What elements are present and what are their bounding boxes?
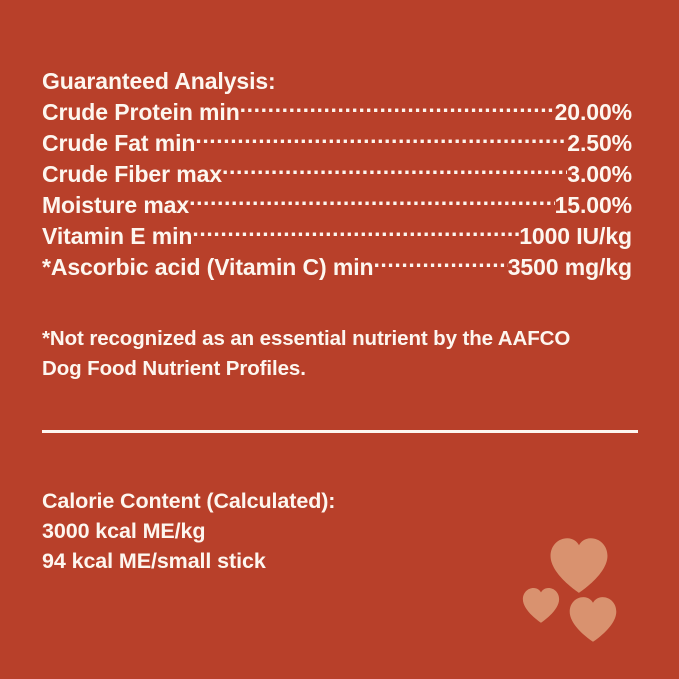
- calorie-content-section: Calorie Content (Calculated): 3000 kcal …: [42, 486, 502, 576]
- dot-leader: [195, 128, 567, 151]
- nutrient-row: Crude Protein min 20.00%: [42, 97, 632, 128]
- footnote-line-2: Dog Food Nutrient Profiles.: [42, 354, 642, 384]
- nutrient-value: 3.00%: [567, 159, 632, 190]
- nutrient-value: 1000 IU/kg: [519, 221, 632, 252]
- guaranteed-analysis-section: Guaranteed Analysis: Crude Protein min 2…: [42, 66, 632, 283]
- nutrient-label: Crude Fat min: [42, 128, 195, 159]
- calorie-per-stick: 94 kcal ME/small stick: [42, 546, 502, 576]
- nutrient-row: Moisture max 15.00%: [42, 190, 632, 221]
- nutrient-row: *Ascorbic acid (Vitamin C) min 3500 mg/k…: [42, 252, 632, 283]
- nutrient-value: 2.50%: [567, 128, 632, 159]
- nutrient-row: Vitamin E min 1000 IU/kg: [42, 221, 632, 252]
- calorie-per-kg: 3000 kcal ME/kg: [42, 516, 502, 546]
- dot-leader: [189, 190, 555, 213]
- nutrient-label: Moisture max: [42, 190, 189, 221]
- nutrient-label: *Ascorbic acid (Vitamin C) min: [42, 252, 373, 283]
- aafco-footnote: *Not recognized as an essential nutrient…: [42, 324, 642, 384]
- nutrient-label: Crude Protein min: [42, 97, 240, 128]
- dot-leader: [192, 221, 519, 244]
- nutrient-label: Crude Fiber max: [42, 159, 222, 190]
- dot-leader: [222, 159, 567, 182]
- footnote-line-1: *Not recognized as an essential nutrient…: [42, 324, 642, 354]
- nutrient-row: Crude Fat min 2.50%: [42, 128, 632, 159]
- guaranteed-analysis-heading: Guaranteed Analysis:: [42, 66, 632, 97]
- dot-leader: [373, 252, 507, 275]
- heart-icon-small: [520, 584, 562, 626]
- section-divider: [42, 430, 638, 433]
- nutrient-value: 20.00%: [555, 97, 632, 128]
- pet-food-label-panel: Guaranteed Analysis: Crude Protein min 2…: [0, 0, 679, 679]
- nutrient-row: Crude Fiber max 3.00%: [42, 159, 632, 190]
- hearts-decoration: [520, 528, 650, 648]
- nutrient-value: 3500 mg/kg: [508, 252, 632, 283]
- heart-icon-medium: [566, 592, 620, 646]
- dot-leader: [240, 97, 555, 120]
- calorie-content-heading: Calorie Content (Calculated):: [42, 486, 502, 516]
- nutrient-value: 15.00%: [555, 190, 632, 221]
- nutrient-label: Vitamin E min: [42, 221, 192, 252]
